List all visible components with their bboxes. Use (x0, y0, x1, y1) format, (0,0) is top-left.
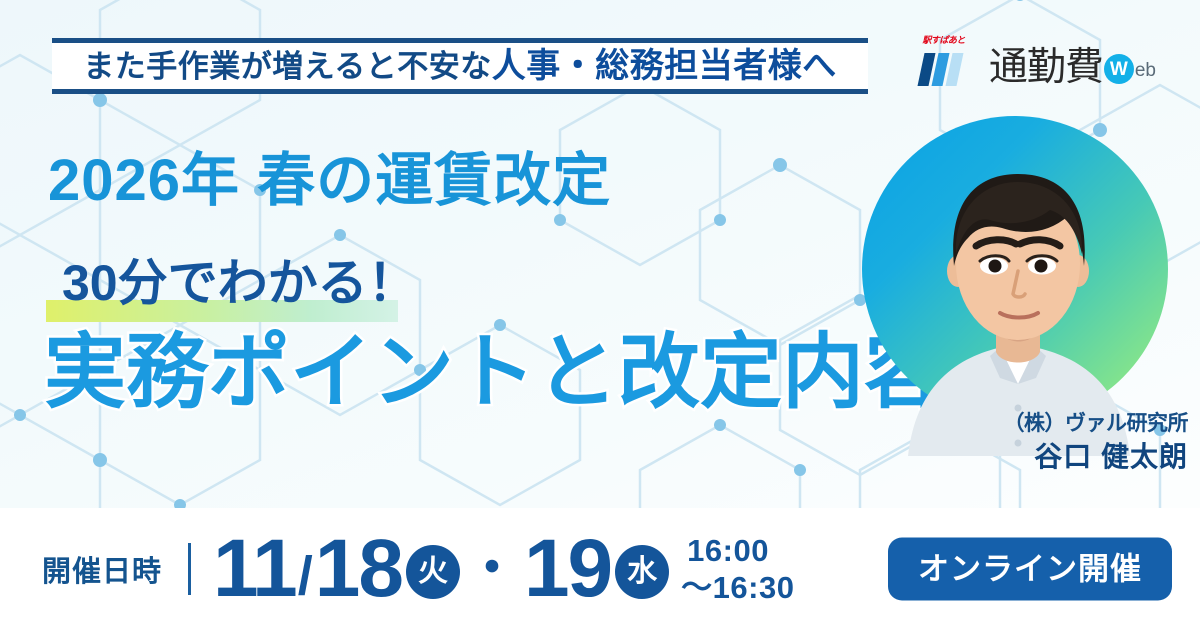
schedule-time: 16:00 ～16:30 (687, 533, 794, 606)
speaker-company: （株）ヴァル研究所 (1004, 412, 1189, 437)
speaker-name: 谷口 健太朗 (1004, 440, 1189, 473)
schedule-month: 11 (213, 528, 296, 610)
speaker-info: （株）ヴァル研究所 谷口 健太朗 (1004, 412, 1189, 473)
three-bars-icon: 駅すぱあと (921, 36, 983, 88)
schedule-bar: 開催日時 11 / 18 火 ・ 19 水 16:00 ～16:30 オンライン… (0, 508, 1200, 630)
online-event-badge[interactable]: オンライン開催 (888, 538, 1172, 601)
schedule-day-2: 19 (524, 528, 611, 610)
schedule-time-end: ～16:30 (681, 570, 794, 607)
headline-line-1: 2026年 春の運賃改定 (48, 152, 611, 210)
logo-wordmark: 通勤費 (989, 48, 1103, 87)
schedule-date-separator: ・ (466, 543, 518, 595)
logo-tagline-text: 駅すぱあと (922, 36, 966, 45)
schedule-slash: / (298, 549, 313, 603)
schedule-dayofweek-2: 水 (615, 545, 669, 599)
schedule-dayofweek-1: 火 (406, 545, 460, 599)
speaker-portrait (850, 116, 1180, 456)
webinar-banner: また手作業が増えると不安な人事・総務担当者様へ 駅すぱあと 通勤費 W eb 2… (0, 0, 1200, 630)
catch-copy-lead: また手作業が増えると不安な (83, 49, 492, 84)
schedule-dates: 11 / 18 火 ・ 19 水 16:00 ～16:30 (213, 528, 794, 610)
headline-line-2: 30分でわかる！ (62, 258, 418, 308)
logo-web-circle-icon: W (1104, 54, 1134, 84)
catch-copy-text: また手作業が増えると不安な人事・総務担当者様へ (83, 49, 837, 83)
logo-web-suffix: eb (1135, 61, 1156, 80)
schedule-label: 開催日時 (42, 548, 162, 590)
headline-line-2-wrapper: 30分でわかる！ (62, 258, 418, 320)
product-logo[interactable]: 駅すぱあと 通勤費 W eb (921, 28, 1156, 88)
logo-bars (921, 53, 960, 86)
schedule-time-start: 16:00 (687, 533, 794, 570)
logo-web-badge: W eb (1104, 54, 1156, 84)
catch-copy-target: 人事・総務担当者様へ (492, 47, 837, 85)
schedule-divider (188, 543, 191, 595)
schedule-day-1: 18 (315, 528, 402, 610)
headline-line-3: 実務ポイントと改定内容 (44, 332, 946, 414)
speaker-photo-illustration (850, 116, 1180, 456)
catch-copy-box: また手作業が増えると不安な人事・総務担当者様へ (52, 38, 868, 94)
